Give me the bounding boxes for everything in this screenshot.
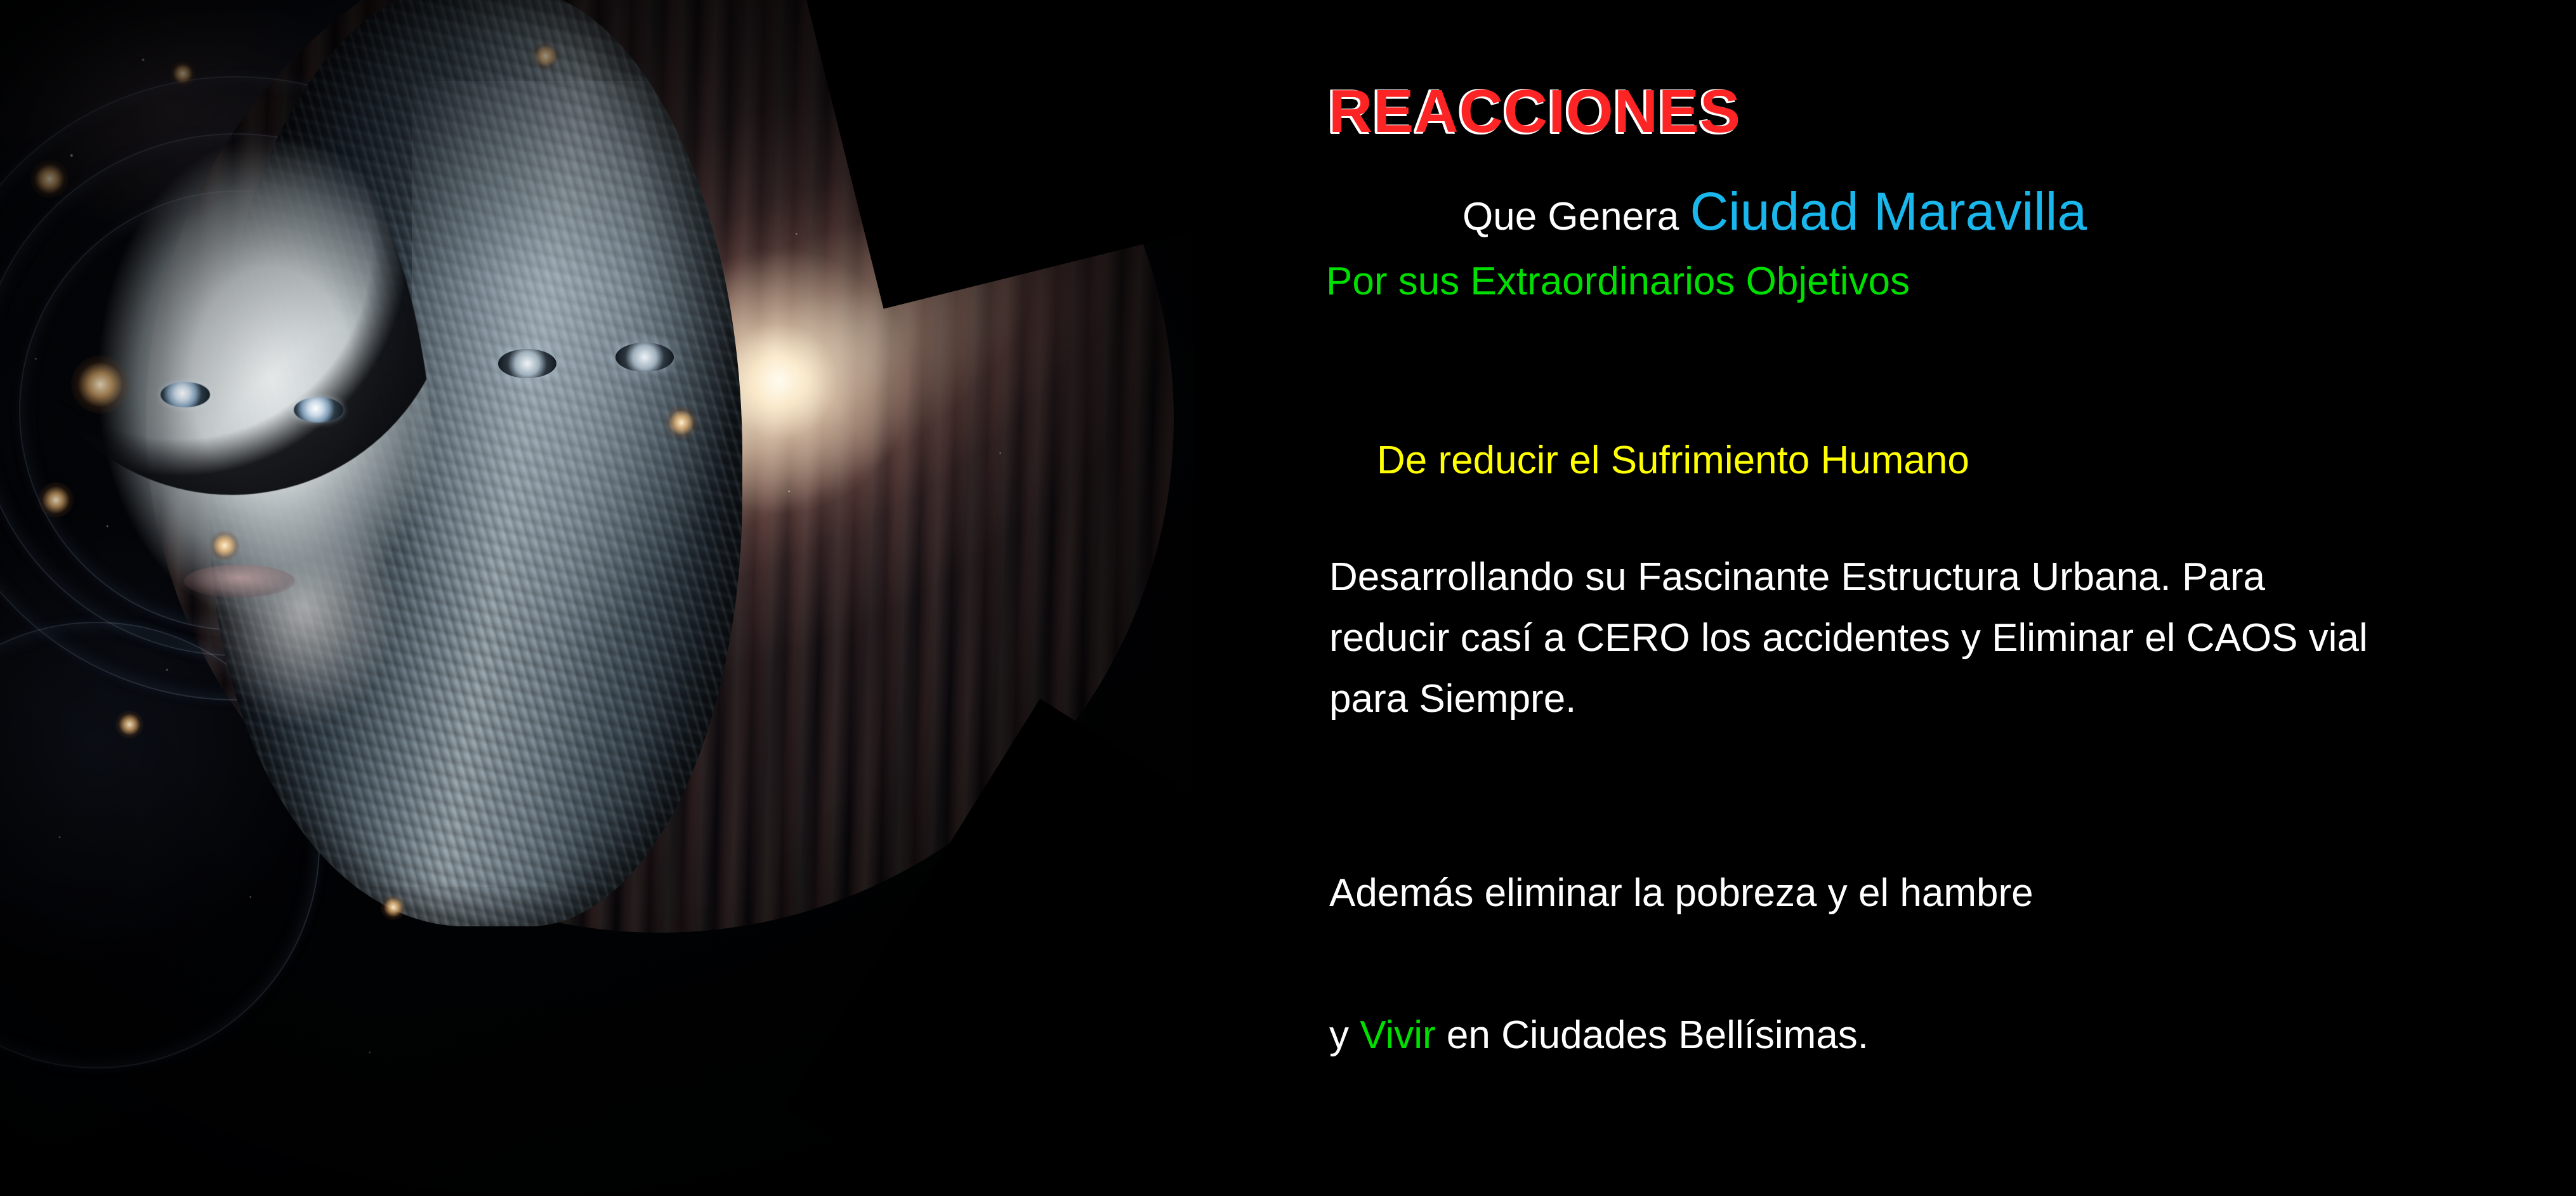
human-lips [184,565,295,598]
android-face-highlight [412,81,742,664]
hero-artwork [0,0,1193,1196]
glow-orb [170,61,195,86]
objectives-line: Por sus Extraordinarios Objetivos [1326,259,1910,304]
headline-reacciones: REACCIONES [1329,81,1741,142]
text-panel: REACCIONES Que Genera Ciudad Maravilla P… [1193,0,2576,1196]
android-eye-left [498,349,556,378]
glow-orb [209,530,240,561]
extra-line: Además eliminar la pobreza y el hambre [1329,871,2034,916]
glow-orb [71,355,129,414]
body-paragraph-text: Desarrollando su Fascinante Estructura U… [1329,547,2370,730]
glow-orb [30,160,69,198]
body-paragraph: Desarrollando su Fascinante Estructura U… [1329,547,2370,730]
closing-line: y Vivir en Ciudades Bellísimas. [1329,1013,1869,1058]
human-face [48,95,435,844]
subtitle-highlight: Ciudad Maravilla [1690,181,2087,241]
human-hair [48,95,435,495]
goal-line: De reducir el Sufrimiento Humano [1377,438,1969,483]
closing-before: y [1329,1013,1360,1057]
slide-canvas: REACCIONES Que Genera Ciudad Maravilla P… [0,0,2576,1196]
glow-orb [665,406,698,439]
subtitle-prefix: Que Genera [1462,195,1679,239]
glow-orb [115,711,143,739]
closing-highlight-vivir: Vivir [1360,1013,1435,1057]
subtitle-line: Que Genera Ciudad Maravilla [1462,181,2087,242]
glow-orb [38,482,74,518]
glow-orb [532,42,560,70]
glow-orb [381,895,406,920]
human-eye-right [294,397,343,423]
closing-after: en Ciudades Bellísimas. [1436,1013,1869,1057]
android-eye-right [615,343,674,372]
human-eye-left [161,382,210,407]
